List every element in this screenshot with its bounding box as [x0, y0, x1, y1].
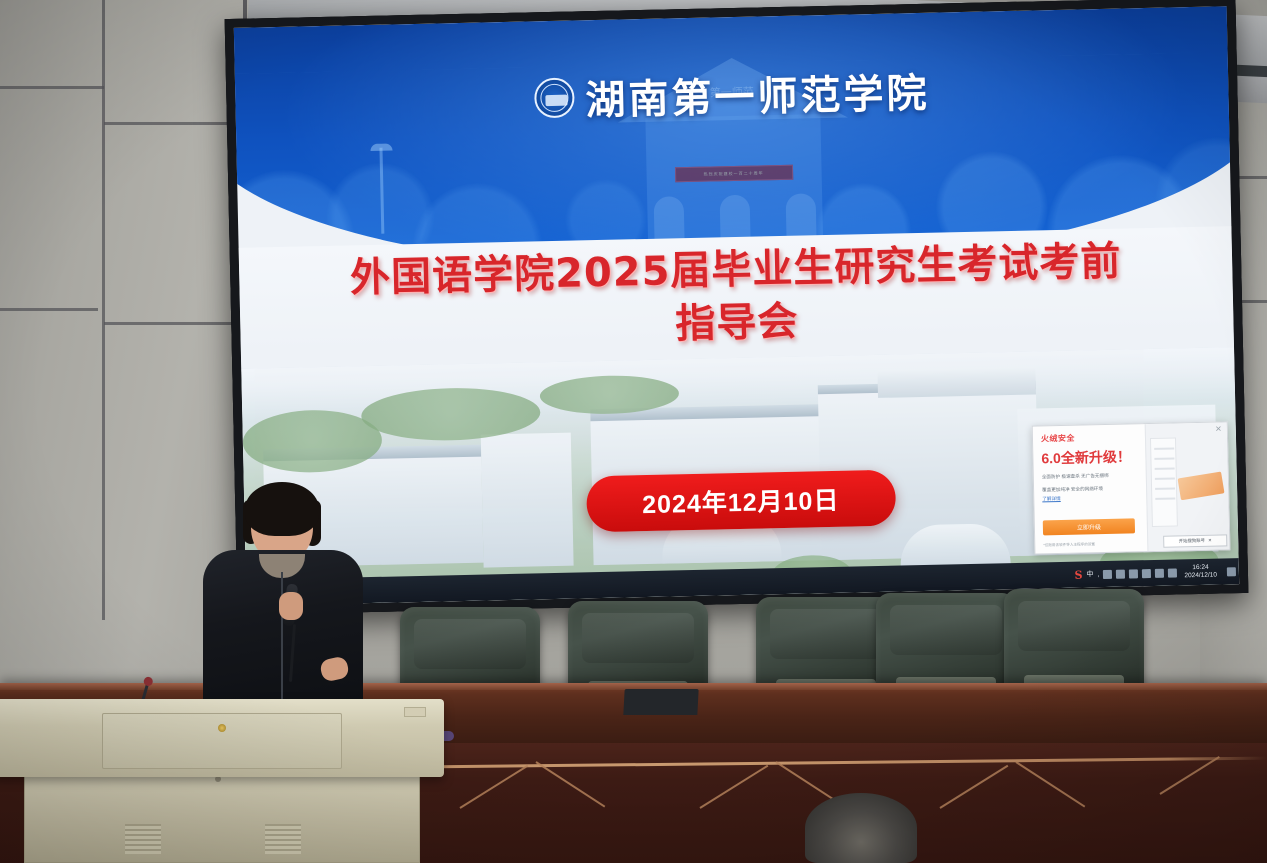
popup-features-line-2: 覆盖更加纯净 安全的网络环境 [1042, 484, 1138, 494]
popup-preview-pane: ✕ 开始搜狗账号 ✕ [1145, 422, 1230, 551]
ime-punct-icon[interactable]: , [1097, 571, 1099, 578]
network-icon[interactable] [1155, 568, 1164, 577]
ime-more-icon[interactable] [1142, 569, 1151, 578]
sogou-ime-icon[interactable]: S [1074, 568, 1082, 581]
led-display-screen[interactable]: 第一师范 热烈庆祝建校一百二十周年 湖南第一师范学院 [225, 0, 1249, 615]
popup-headline: 6.0全新升级！ [1041, 446, 1137, 468]
speaker-hand-holding-mic [279, 592, 303, 620]
slide-date-badge: 2024年12月10日 [586, 470, 896, 533]
table-nameplate [623, 689, 698, 715]
lock-icon [218, 724, 226, 732]
photo-scene: 第一师范 热烈庆祝建校一百二十周年 湖南第一师范学院 [0, 0, 1267, 863]
podium-desktop [0, 699, 444, 777]
sogou-account-tip[interactable]: 开始搜狗账号 ✕ [1163, 534, 1227, 547]
lectern-podium [0, 699, 444, 863]
jacket-zipper [281, 572, 283, 708]
screen-content: 第一师范 热烈庆祝建校一百二十周年 湖南第一师范学院 [234, 6, 1239, 606]
ime-keyboard-icon[interactable] [1116, 569, 1125, 578]
action-center-icon[interactable] [1227, 567, 1236, 576]
gate-banner-text: 热烈庆祝建校一百二十周年 [674, 165, 792, 183]
popup-upgrade-button[interactable]: 立即升级 [1043, 518, 1135, 535]
university-seal-icon [534, 78, 575, 119]
slide-body: 外国语学院2025届毕业生研究生考试考前 指导会 2024年12月10日 火绒安… [239, 226, 1240, 606]
popup-close-icon[interactable]: ✕ [1215, 425, 1222, 433]
sogou-account-tip-label: 开始搜狗账号 [1179, 538, 1205, 545]
popup-brand: 火绒安全 [1041, 431, 1137, 444]
popup-left-pane: 火绒安全 6.0全新升级！ 全面防护 极速查杀 无广告无捆绑 覆盖更加纯净 安全… [1033, 424, 1148, 553]
ime-tray[interactable]: S 中 , [1074, 566, 1177, 581]
volume-icon[interactable] [1168, 568, 1177, 577]
popup-features-line-1: 全面防护 极速查杀 无广告无捆绑 [1042, 471, 1138, 481]
huorong-security-popup[interactable]: 火绒安全 6.0全新升级！ 全面防护 极速查杀 无广告无捆绑 覆盖更加纯净 安全… [1032, 421, 1231, 554]
popup-preview-sidebar [1150, 437, 1178, 527]
taskbar-clock[interactable]: 16:24 2024/12/10 [1181, 563, 1220, 580]
popup-details-link[interactable]: 了解详情 [1042, 494, 1138, 502]
university-name: 湖南第一师范学院 [585, 61, 930, 126]
popup-preview-card [1178, 472, 1225, 501]
ime-toolbox-icon[interactable] [1103, 569, 1112, 578]
ime-chinese-icon[interactable]: 中 [1086, 569, 1093, 579]
audience-member-head [805, 793, 917, 863]
speaker-person [203, 488, 363, 713]
podium-vent-left [125, 824, 161, 854]
clock-date: 2024/12/10 [1184, 572, 1217, 581]
ime-skin-icon[interactable] [1129, 569, 1138, 578]
podium-cabinet [24, 771, 420, 863]
podium-vent-right [265, 824, 301, 854]
podium-drawer[interactable] [102, 713, 342, 769]
popup-footnote: *仅限用该软件导入主程序的设置 [1043, 542, 1095, 548]
slide-title: 外国语学院2025届毕业生研究生考试考前 指导会 [239, 233, 1234, 360]
hair-top [245, 482, 319, 536]
podium-label-plate [404, 707, 426, 717]
sogou-tip-close-icon[interactable]: ✕ [1208, 538, 1212, 544]
